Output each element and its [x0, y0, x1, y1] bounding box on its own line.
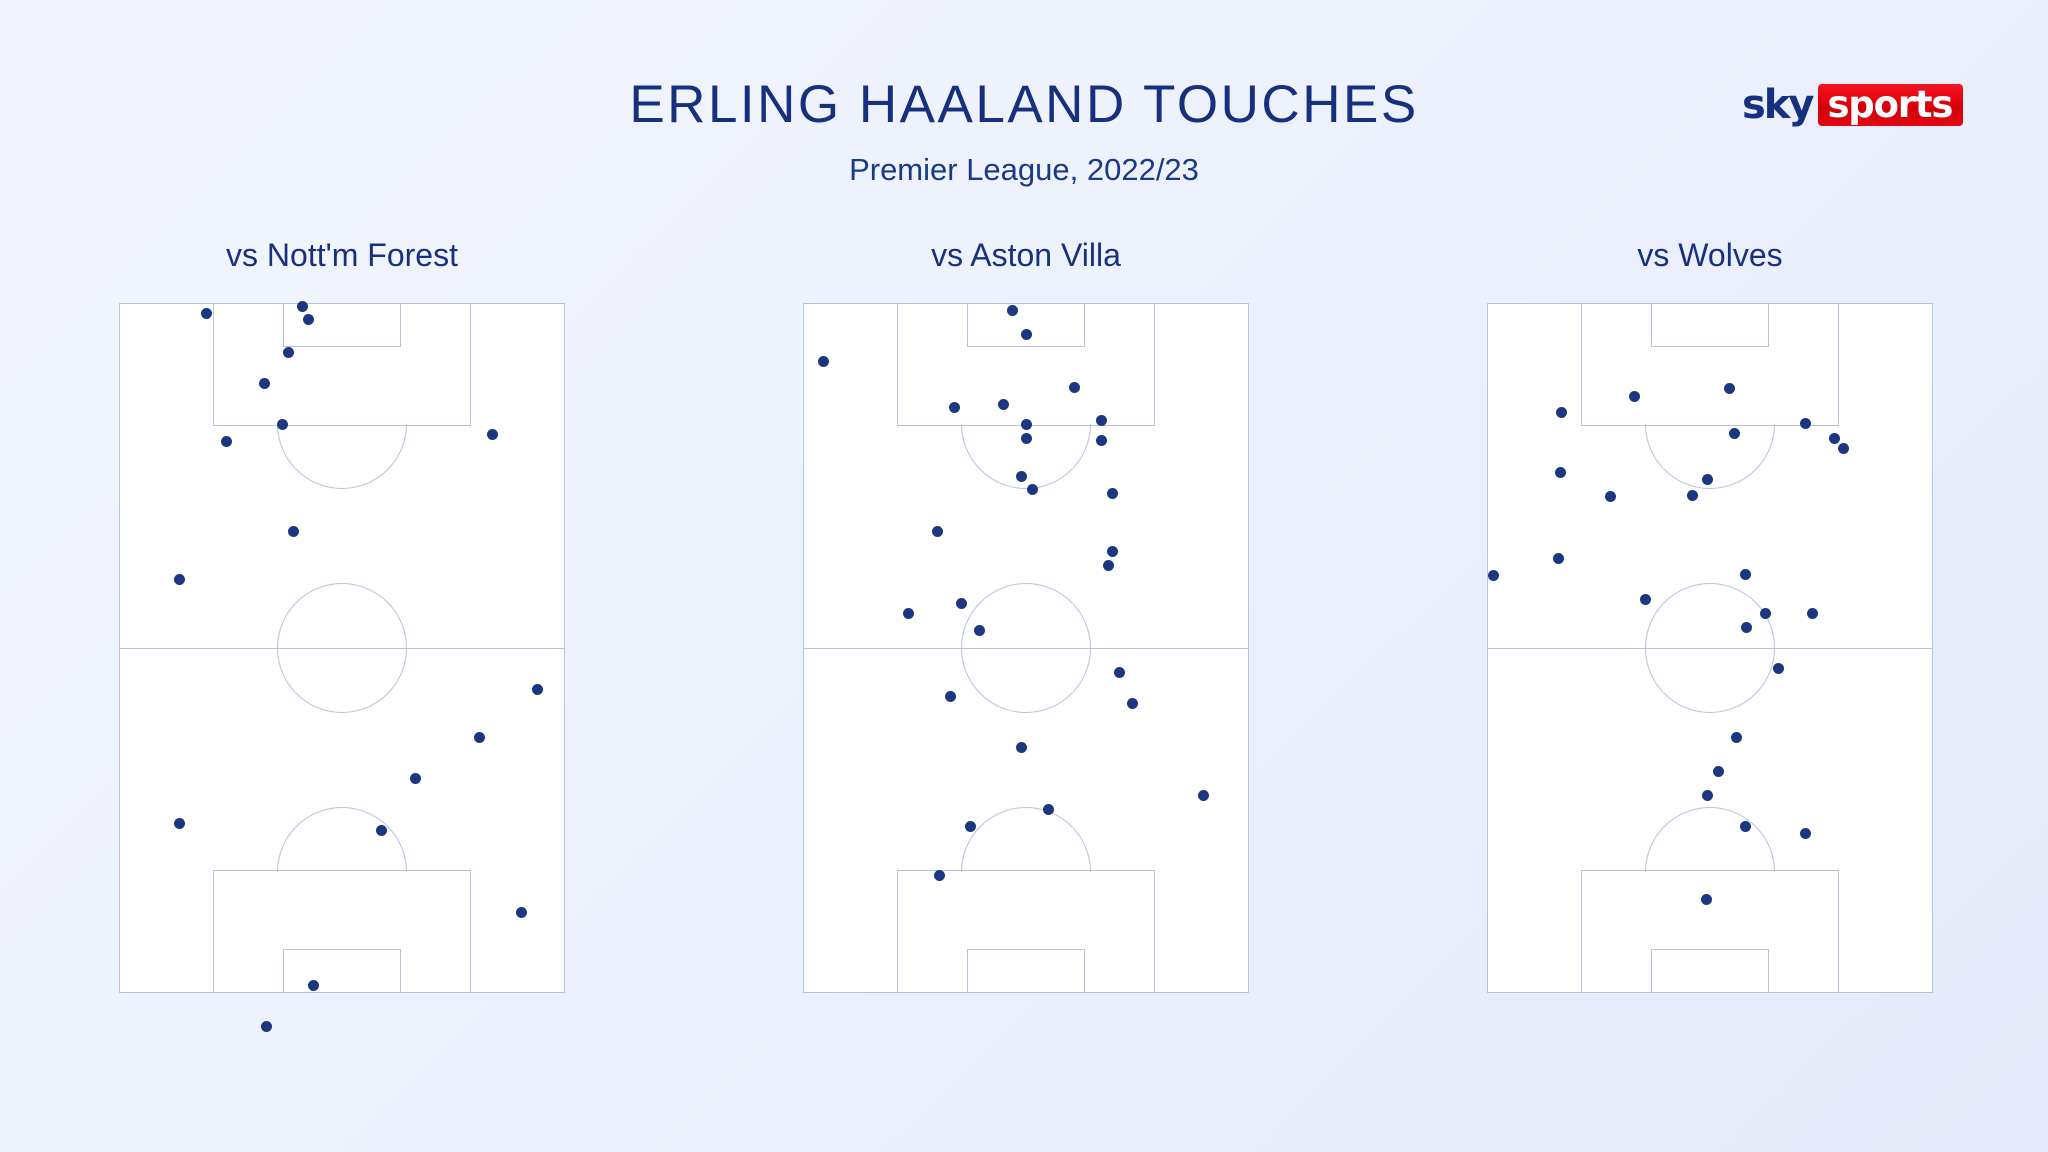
panel-title: vs Aston Villa [803, 237, 1249, 274]
touch-dot [308, 980, 319, 991]
touch-dot [1640, 594, 1651, 605]
pitch-diagram [119, 303, 565, 993]
touch-dot [934, 870, 945, 881]
pitch-diagram [803, 303, 1249, 993]
centre-circle [1645, 583, 1775, 713]
pitch-diagram [1487, 303, 1933, 993]
touch-dot [1027, 484, 1038, 495]
touch-dot [1553, 553, 1564, 564]
touch-dot [1198, 790, 1209, 801]
touch-dot [297, 301, 308, 312]
sky-wordmark: sky [1742, 84, 1818, 126]
touch-dot [532, 684, 543, 695]
six-yard-box-bottom [1651, 949, 1768, 992]
touch-dot [410, 773, 421, 784]
touch-dot [1016, 471, 1027, 482]
six-yard-box-bottom [283, 949, 400, 992]
touch-dot [903, 608, 914, 619]
touch-dot [474, 732, 485, 743]
touch-dot [1043, 804, 1054, 815]
page-title: ERLING HAALAND TOUCHES [0, 74, 2048, 135]
sports-wordmark: sports [1827, 84, 1952, 126]
touch-dot [1702, 790, 1713, 801]
touch-dot [1773, 663, 1784, 674]
touch-dot [1103, 560, 1114, 571]
touch-dot [1127, 698, 1138, 709]
touch-dot [1760, 608, 1771, 619]
infographic-root: ERLING HAALAND TOUCHES Premier League, 2… [0, 0, 2048, 1152]
touch-dot [1687, 490, 1698, 501]
touch-dot [1556, 407, 1567, 418]
touch-dot [516, 907, 527, 918]
touch-dot [1807, 608, 1818, 619]
touch-dot [277, 419, 288, 430]
centre-circle [277, 583, 407, 713]
touch-dot [1488, 570, 1499, 581]
touch-dot [288, 526, 299, 537]
centre-circle [961, 583, 1091, 713]
touch-dot [1021, 419, 1032, 430]
touch-dot [956, 598, 967, 609]
touch-dot [1096, 435, 1107, 446]
touch-dot [221, 436, 232, 447]
touch-dot [1107, 546, 1118, 557]
touch-dot [1731, 732, 1742, 743]
touch-dot [1829, 433, 1840, 444]
touch-dot [1021, 329, 1032, 340]
touch-dot [1107, 488, 1118, 499]
touch-dot [1555, 467, 1566, 478]
touch-dot [1838, 443, 1849, 454]
touch-dot [174, 818, 185, 829]
page-subtitle: Premier League, 2022/23 [0, 152, 2048, 188]
touch-dot [487, 429, 498, 440]
touch-dot [201, 308, 212, 319]
panel-title: vs Nott'm Forest [119, 237, 565, 274]
six-yard-box-top [1651, 304, 1768, 347]
touch-dot [174, 574, 185, 585]
touch-dot [1740, 569, 1751, 580]
touch-dot [1021, 433, 1032, 444]
touch-dot [1800, 418, 1811, 429]
sky-sports-logo: sky sports [1742, 84, 1963, 126]
touch-dot [1713, 766, 1724, 777]
touch-dot [283, 347, 294, 358]
touch-dot [1605, 491, 1616, 502]
sports-badge: sports [1818, 84, 1963, 126]
touch-dot [818, 356, 829, 367]
touch-dot [1016, 742, 1027, 753]
touch-dot [261, 1021, 272, 1032]
touch-dot [1701, 894, 1712, 905]
touch-dot [1114, 667, 1125, 678]
six-yard-box-top [967, 304, 1084, 347]
touch-dot [1800, 828, 1811, 839]
touch-dot [945, 691, 956, 702]
panel-title: vs Wolves [1487, 237, 1933, 274]
touch-dot [1729, 428, 1740, 439]
touch-dot [932, 526, 943, 537]
six-yard-box-bottom [967, 949, 1084, 992]
